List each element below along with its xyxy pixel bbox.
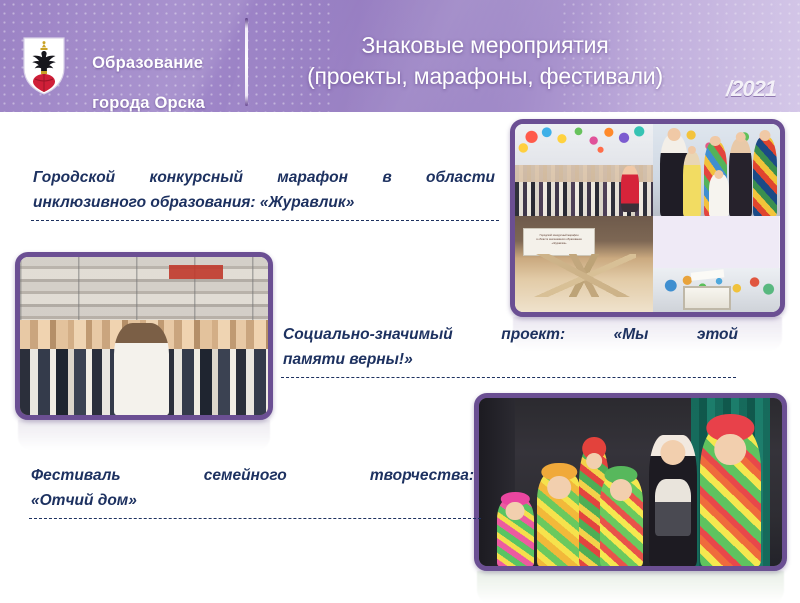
caption-underline-marathon	[31, 220, 499, 221]
caption-memory-project-line-2: памяти верны!»	[283, 347, 738, 372]
photo-family-festival	[474, 393, 787, 571]
caption-inclusive-marathon: Городской конкурсный марафон в области и…	[33, 165, 495, 215]
brand-line-2: города Орска	[92, 94, 205, 112]
caption-inclusive-marathon-line-1: Городской конкурсный марафон в области	[33, 165, 495, 190]
caption-underline-festival	[29, 518, 481, 519]
caption-family-festival-line-1: Фестиваль семейного творчества:	[31, 463, 474, 488]
collage-cell-balloon-hall	[515, 124, 653, 216]
slide-body: Городской конкурсный марафон в области и…	[0, 112, 800, 600]
photo-exhibition-visit	[15, 252, 273, 420]
header-vertical-divider	[245, 18, 248, 106]
exhibition-scene	[20, 257, 268, 415]
caption-memory-project-line-1: Социально-значимый проект: «Мы этой	[283, 322, 738, 347]
caption-memory-project: Социально-значимый проект: «Мы этой памя…	[283, 322, 738, 372]
slide-title: Знаковые мероприятия (проекты, марафоны,…	[255, 30, 715, 92]
brand-line-1: Образование	[92, 54, 203, 72]
caption-inclusive-marathon-line-2: инклюзивного образования: «Журавлик»	[33, 190, 495, 215]
photo-reflection-exhibition	[18, 420, 270, 450]
slide-title-line-2: (проекты, марафоны, фестивали)	[255, 61, 715, 92]
caption-family-festival: Фестиваль семейного творчества: «Отчий д…	[31, 463, 474, 513]
slide-title-line-1: Знаковые мероприятия	[255, 30, 715, 61]
brand-title: Образование города Орска	[73, 33, 205, 112]
slide-header: Образование города Орска Знаковые меропр…	[0, 0, 800, 112]
family-festival-scene	[479, 398, 782, 566]
collage-cell-origami-crane: Городской конкурсный марафон в области и…	[515, 216, 653, 312]
collage-cell-paper-flowers	[653, 268, 780, 312]
year-label: /2021	[726, 76, 776, 102]
caption-family-festival-line-2: «Отчий дом»	[31, 488, 474, 513]
photo-reflection-family	[477, 571, 784, 603]
crane-poster-caption: Городской конкурсный марафон в области и…	[523, 228, 595, 257]
caption-underline-memory	[281, 377, 736, 378]
crane-poster-line-3: «Журавлик»	[524, 242, 594, 246]
collage-cell-costumed-adults	[653, 124, 780, 216]
orsk-coat-of-arms-icon	[20, 34, 68, 96]
photo-inclusive-education-collage: Городской конкурсный марафон в области и…	[510, 119, 785, 317]
